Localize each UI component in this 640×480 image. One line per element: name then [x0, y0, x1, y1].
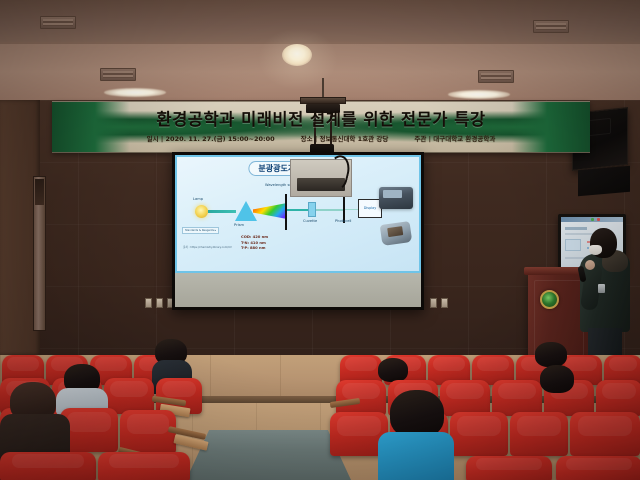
projector-bracket: [300, 97, 346, 104]
attendee-head: [390, 390, 444, 438]
projection-screen-frame: 분광광도계(DR6000) Lamp Prism Wavelength sele…: [172, 152, 424, 310]
transmitted-beam: [316, 209, 344, 211]
banner-title: 환경공학과 미래비전 설계를 위한 전문가 특강: [52, 106, 590, 130]
ceiling-downlight-icon: [282, 44, 312, 66]
signal-beam: [345, 209, 358, 210]
attendee-head: [535, 342, 567, 367]
university-crest-icon: [540, 290, 559, 309]
wall-outlet-icon: [156, 298, 163, 308]
banner-datetime: 일시 | 2020. 11. 27.(금) 15:00~20:00: [147, 133, 275, 143]
slide-content: 분광광도계(DR6000) Lamp Prism Wavelength sele…: [175, 155, 421, 273]
slide-label-display: Display: [359, 206, 381, 210]
seat: [120, 410, 176, 454]
seat: [0, 452, 96, 480]
monochromatic-beam: [287, 209, 309, 211]
banner-location: 장소 | 정보통신대학 1호관 강당: [301, 133, 389, 143]
wall-speaker-column: [33, 176, 46, 331]
projection-screen: 분광광도계(DR6000) Lamp Prism Wavelength sele…: [175, 155, 421, 307]
screen-blank-area: [175, 273, 421, 307]
slide-tag-box: Standards & Reagents ▸: [182, 227, 219, 234]
wall-speaker-right-lower: [578, 166, 630, 197]
slide-label-prism: Prism: [234, 223, 244, 227]
ceiling-strip-light-icon: [104, 88, 166, 97]
banner-subtitle: 일시 | 2020. 11. 27.(금) 15:00~20:00 장소 | 정…: [52, 133, 590, 143]
seat: [336, 380, 386, 416]
slide-label-lamp: Lamp: [193, 197, 203, 201]
seat: [450, 412, 508, 456]
wall-outlet-icon: [441, 298, 448, 308]
ceiling-front-plane: [0, 42, 640, 100]
wall-outlet-icon: [145, 298, 152, 308]
wavelength-list: COD: 420 nm T-N: 410 nm T-P: 880 nm: [241, 235, 268, 252]
ceiling-vent-icon: [533, 20, 569, 33]
seat: [596, 380, 640, 416]
seat: [98, 452, 190, 480]
ceiling-strip-light-icon: [448, 90, 510, 99]
attendee-body: [378, 432, 454, 480]
ceiling-vent-icon: [40, 16, 76, 29]
light-beam: [208, 210, 236, 213]
seat: [570, 412, 640, 456]
presenter-hand: [585, 260, 595, 270]
attendee-head: [378, 358, 408, 382]
monitor-status-dot: [591, 218, 594, 221]
seat: [440, 380, 490, 416]
lamp-bulb-icon: [195, 205, 208, 218]
seat: [510, 412, 568, 456]
banner-host: 주관 | 대구대학교 환경공학과: [414, 133, 495, 143]
slide-source-note: 출처 : https://chemistry.library.com/UV: [183, 245, 232, 249]
spectrum-fan: [253, 203, 287, 219]
seat: [556, 456, 640, 480]
seat: [492, 380, 542, 416]
slide-label-photocell: Photocell: [335, 219, 351, 223]
cuvette-icon: [308, 202, 316, 217]
seat: [466, 456, 552, 480]
wavelength-item: T-P: 880 nm: [241, 246, 268, 252]
monitor-status-dot: [597, 218, 600, 221]
ceiling-vent-icon: [100, 68, 136, 81]
face-mask-icon: [589, 245, 602, 255]
presenter-badge: [598, 284, 605, 293]
attendee-head: [540, 365, 574, 393]
ceiling-vent-icon: [478, 70, 514, 83]
aisle-carpet: [186, 430, 351, 480]
lecture-hall-photo: 환경공학과 미래비전 설계를 위한 전문가 특강 일시 | 2020. 11. …: [0, 0, 640, 480]
wavelength-selector-slit: [285, 194, 287, 230]
wavelength-item: COD: 420 nm: [241, 235, 268, 241]
slide-label-cuvette: Cuvette: [303, 219, 317, 223]
portable-meter-photo: [380, 221, 413, 246]
spectrophotometer-photo: [379, 187, 413, 209]
wall-outlet-icon: [430, 298, 437, 308]
presenter: [576, 228, 636, 360]
